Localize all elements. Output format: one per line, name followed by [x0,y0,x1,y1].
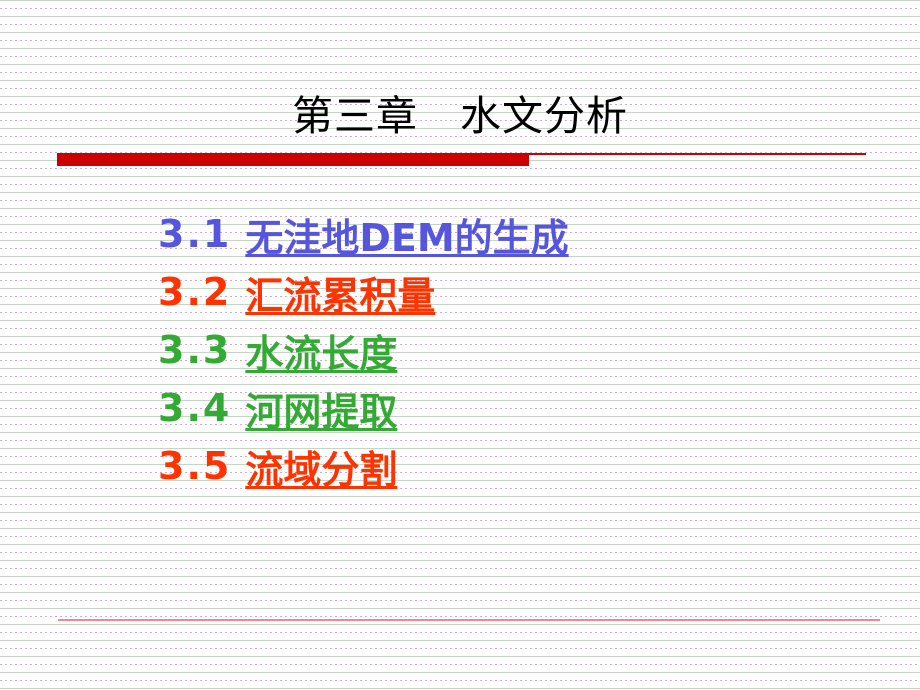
agenda-item-label[interactable]: 流域分割 [245,439,397,494]
agenda-item-3-1[interactable]: 3.1 无洼地DEM的生成 [0,205,920,263]
agenda-item-3-3[interactable]: 3.3 水流长度 [0,321,920,379]
agenda-item-label[interactable]: 无洼地DEM的生成 [245,207,568,262]
title-accent-line [529,153,866,155]
agenda-item-number: 3.2 [158,270,245,314]
agenda-item-3-5[interactable]: 3.5 流域分割 [0,437,920,495]
agenda-item-label[interactable]: 河网提取 [245,381,397,436]
agenda-item-number: 3.3 [158,328,245,372]
agenda-list: 3.1 无洼地DEM的生成 3.2 汇流累积量 3.3 水流长度 3.4 河网提… [0,205,920,495]
agenda-item-label[interactable]: 水流长度 [245,323,397,378]
footer-divider [58,619,880,621]
agenda-item-number: 3.5 [158,444,245,488]
title-accent-bar [57,153,529,166]
agenda-item-label[interactable]: 汇流累积量 [245,265,435,320]
agenda-item-3-2[interactable]: 3.2 汇流累积量 [0,263,920,321]
agenda-item-3-4[interactable]: 3.4 河网提取 [0,379,920,437]
presentation-slide: 第三章 水文分析 3.1 无洼地DEM的生成 3.2 汇流累积量 3.3 水流长… [0,0,920,690]
agenda-item-number: 3.4 [158,386,245,430]
agenda-item-number: 3.1 [158,212,245,256]
page-title: 第三章 水文分析 [0,92,920,140]
